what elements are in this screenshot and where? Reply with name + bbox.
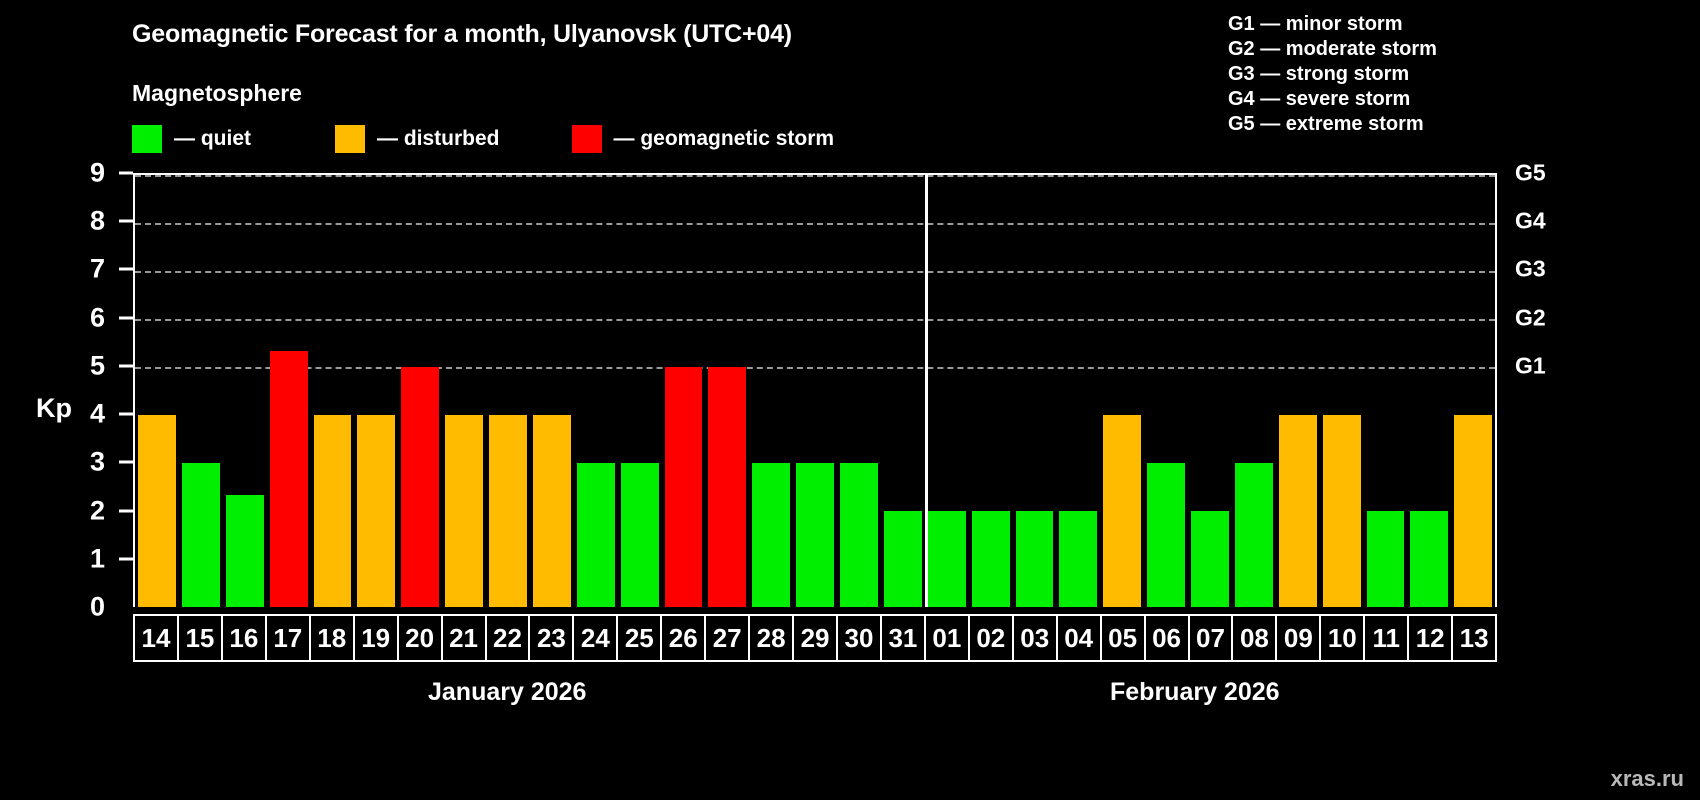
bar-cell[interactable] bbox=[223, 175, 267, 607]
day-label-14[interactable]: 14 bbox=[135, 616, 179, 660]
bar-24[interactable] bbox=[577, 463, 615, 607]
y-tick-mark bbox=[119, 413, 133, 416]
bar-31[interactable] bbox=[884, 511, 922, 607]
bar-18[interactable] bbox=[314, 415, 352, 607]
day-label-25[interactable]: 25 bbox=[618, 616, 662, 660]
day-label-13[interactable]: 13 bbox=[1453, 616, 1495, 660]
bar-cell[interactable] bbox=[618, 175, 662, 607]
bar-14[interactable] bbox=[138, 415, 176, 607]
day-label-26[interactable]: 26 bbox=[662, 616, 706, 660]
day-label-10[interactable]: 10 bbox=[1321, 616, 1365, 660]
bar-cell[interactable] bbox=[179, 175, 223, 607]
bar-cell[interactable] bbox=[1364, 175, 1408, 607]
day-label-17[interactable]: 17 bbox=[267, 616, 311, 660]
y-tick-label: 6 bbox=[90, 302, 105, 333]
bar-16[interactable] bbox=[226, 495, 264, 607]
day-label-06[interactable]: 06 bbox=[1146, 616, 1190, 660]
bar-series bbox=[135, 175, 1495, 607]
bar-cell[interactable] bbox=[1320, 175, 1364, 607]
day-label-16[interactable]: 16 bbox=[223, 616, 267, 660]
bar-cell[interactable] bbox=[1056, 175, 1100, 607]
y-tick-label: 9 bbox=[90, 158, 105, 189]
bar-cell[interactable] bbox=[574, 175, 618, 607]
bar-cell[interactable] bbox=[1144, 175, 1188, 607]
legend-label-quiet: — quiet bbox=[174, 127, 251, 151]
bar-07[interactable] bbox=[1191, 511, 1229, 607]
day-label-07[interactable]: 07 bbox=[1190, 616, 1234, 660]
bar-cell[interactable] bbox=[925, 175, 969, 607]
bar-cell[interactable] bbox=[1276, 175, 1320, 607]
g-scale-line: G3 — strong storm bbox=[1228, 62, 1437, 87]
day-label-01[interactable]: 01 bbox=[926, 616, 970, 660]
y-tick-mark bbox=[119, 268, 133, 271]
y-tick-mark bbox=[119, 172, 133, 175]
g-scale-line: G5 — extreme storm bbox=[1228, 112, 1437, 137]
bar-cell[interactable] bbox=[1188, 175, 1232, 607]
bar-19[interactable] bbox=[357, 415, 395, 607]
day-label-09[interactable]: 09 bbox=[1277, 616, 1321, 660]
bar-05[interactable] bbox=[1103, 415, 1141, 607]
y-tick-label: 3 bbox=[90, 447, 105, 478]
bar-09[interactable] bbox=[1279, 415, 1317, 607]
bar-15[interactable] bbox=[182, 463, 220, 607]
y-tick-label: 5 bbox=[90, 350, 105, 381]
bar-cell[interactable] bbox=[705, 175, 749, 607]
bar-cell[interactable] bbox=[969, 175, 1013, 607]
bar-01[interactable] bbox=[928, 511, 966, 607]
day-label-22[interactable]: 22 bbox=[487, 616, 531, 660]
g-scale-legend: G1 — minor storm G2 — moderate storm G3 … bbox=[1228, 12, 1437, 137]
g-tick-label: G5 bbox=[1515, 160, 1546, 187]
day-label-31[interactable]: 31 bbox=[882, 616, 926, 660]
bar-cell[interactable] bbox=[442, 175, 486, 607]
y-axis-title: Kp bbox=[36, 393, 72, 424]
bar-cell[interactable] bbox=[486, 175, 530, 607]
month-label-february: February 2026 bbox=[1110, 678, 1280, 707]
bar-12[interactable] bbox=[1410, 511, 1448, 607]
legend-label-disturbed: — disturbed bbox=[377, 127, 500, 151]
g-axis: G1G2G3G4G5 bbox=[1497, 173, 1617, 607]
day-label-21[interactable]: 21 bbox=[443, 616, 487, 660]
geomagnetic-forecast-chart: Geomagnetic Forecast for a month, Ulyano… bbox=[0, 0, 1700, 800]
day-label-08[interactable]: 08 bbox=[1233, 616, 1277, 660]
y-tick-mark bbox=[119, 364, 133, 367]
y-tick-mark bbox=[119, 509, 133, 512]
y-tick-mark bbox=[119, 316, 133, 319]
bar-cell[interactable] bbox=[354, 175, 398, 607]
day-label-30[interactable]: 30 bbox=[838, 616, 882, 660]
day-label-20[interactable]: 20 bbox=[399, 616, 443, 660]
legend-item-disturbed: — disturbed bbox=[335, 125, 500, 153]
bar-11[interactable] bbox=[1367, 511, 1405, 607]
y-tick-mark bbox=[119, 557, 133, 560]
day-label-28[interactable]: 28 bbox=[750, 616, 794, 660]
y-tick-label: 1 bbox=[90, 543, 105, 574]
bar-cell[interactable] bbox=[1407, 175, 1451, 607]
day-label-04[interactable]: 04 bbox=[1058, 616, 1102, 660]
legend-swatch-storm bbox=[572, 125, 602, 153]
y-tick-label: 7 bbox=[90, 254, 105, 285]
plot-area bbox=[133, 173, 1497, 607]
g-scale-line: G1 — minor storm bbox=[1228, 12, 1437, 37]
legend-swatch-disturbed bbox=[335, 125, 365, 153]
legend-item-storm: — geomagnetic storm bbox=[572, 125, 835, 153]
bar-08[interactable] bbox=[1235, 463, 1273, 607]
bar-04[interactable] bbox=[1059, 511, 1097, 607]
y-tick-mark bbox=[119, 461, 133, 464]
bar-cell[interactable] bbox=[1232, 175, 1276, 607]
bar-cell[interactable] bbox=[793, 175, 837, 607]
bar-22[interactable] bbox=[489, 415, 527, 607]
day-label-12[interactable]: 12 bbox=[1409, 616, 1453, 660]
bar-23[interactable] bbox=[533, 415, 571, 607]
legend-label-storm: — geomagnetic storm bbox=[614, 127, 835, 151]
day-label-23[interactable]: 23 bbox=[530, 616, 574, 660]
bar-26[interactable] bbox=[665, 367, 703, 607]
bar-cell[interactable] bbox=[311, 175, 355, 607]
legend-swatch-quiet bbox=[132, 125, 162, 153]
color-legend: — quiet — disturbed — geomagnetic storm bbox=[132, 125, 834, 153]
bar-29[interactable] bbox=[796, 463, 834, 607]
bar-cell[interactable] bbox=[1013, 175, 1057, 607]
bar-cell[interactable] bbox=[662, 175, 706, 607]
day-label-18[interactable]: 18 bbox=[311, 616, 355, 660]
bar-30[interactable] bbox=[840, 463, 878, 607]
g-tick-label: G1 bbox=[1515, 352, 1546, 379]
g-tick-label: G4 bbox=[1515, 208, 1546, 235]
bar-21[interactable] bbox=[445, 415, 483, 607]
g-scale-line: G2 — moderate storm bbox=[1228, 37, 1437, 62]
bar-28[interactable] bbox=[752, 463, 790, 607]
bar-03[interactable] bbox=[1016, 511, 1054, 607]
bar-cell[interactable] bbox=[267, 175, 311, 607]
page-title: Geomagnetic Forecast for a month, Ulyano… bbox=[132, 20, 792, 49]
day-label-05[interactable]: 05 bbox=[1102, 616, 1146, 660]
g-scale-line: G4 — severe storm bbox=[1228, 87, 1437, 112]
legend-item-quiet: — quiet bbox=[132, 125, 251, 153]
bar-25[interactable] bbox=[621, 463, 659, 607]
y-tick-mark bbox=[119, 220, 133, 223]
y-tick-label: 8 bbox=[90, 206, 105, 237]
bar-20[interactable] bbox=[401, 367, 439, 607]
bar-cell[interactable] bbox=[837, 175, 881, 607]
y-tick-label: 0 bbox=[90, 592, 105, 623]
day-label-19[interactable]: 19 bbox=[355, 616, 399, 660]
bar-13[interactable] bbox=[1454, 415, 1492, 607]
day-labels-row: 1415161718192021222324252627282930310102… bbox=[133, 614, 1497, 662]
month-label-january: January 2026 bbox=[428, 678, 586, 707]
bar-cell[interactable] bbox=[135, 175, 179, 607]
day-label-11[interactable]: 11 bbox=[1365, 616, 1409, 660]
y-axis: 0123456789 bbox=[0, 173, 133, 607]
watermark: xras.ru bbox=[1611, 766, 1684, 792]
bar-cell[interactable] bbox=[398, 175, 442, 607]
bar-27[interactable] bbox=[708, 367, 746, 607]
bar-cell[interactable] bbox=[881, 175, 925, 607]
bar-17[interactable] bbox=[270, 351, 308, 607]
bar-cell[interactable] bbox=[1100, 175, 1144, 607]
bar-cell[interactable] bbox=[530, 175, 574, 607]
magnetosphere-label: Magnetosphere bbox=[132, 80, 302, 107]
day-label-29[interactable]: 29 bbox=[794, 616, 838, 660]
bar-02[interactable] bbox=[972, 511, 1010, 607]
bar-06[interactable] bbox=[1147, 463, 1185, 607]
bar-cell[interactable] bbox=[749, 175, 793, 607]
g-tick-label: G3 bbox=[1515, 256, 1546, 283]
y-tick-label: 4 bbox=[90, 399, 105, 430]
month-divider bbox=[925, 173, 928, 607]
day-label-27[interactable]: 27 bbox=[706, 616, 750, 660]
day-label-03[interactable]: 03 bbox=[1014, 616, 1058, 660]
day-label-15[interactable]: 15 bbox=[179, 616, 223, 660]
g-tick-label: G2 bbox=[1515, 304, 1546, 331]
bar-10[interactable] bbox=[1323, 415, 1361, 607]
bar-cell[interactable] bbox=[1451, 175, 1495, 607]
y-tick-label: 2 bbox=[90, 495, 105, 526]
day-label-24[interactable]: 24 bbox=[574, 616, 618, 660]
day-label-02[interactable]: 02 bbox=[970, 616, 1014, 660]
